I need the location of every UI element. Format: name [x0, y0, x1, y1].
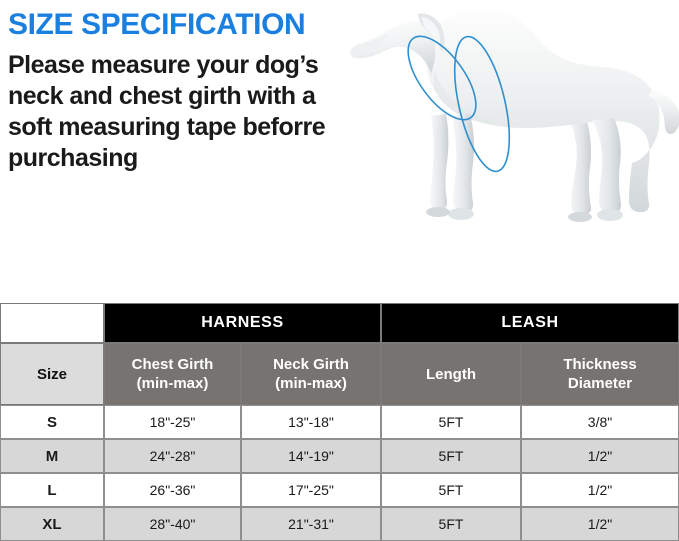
- column-header-thickness-line1: Thickness: [522, 355, 678, 374]
- dog-paw-front-far: [426, 207, 450, 217]
- cell-size: M: [0, 439, 104, 473]
- cell-chest-girth: 28"-40": [104, 507, 241, 541]
- table-body: S 18"-25" 13"-18" 5FT 3/8" M 24"-28" 14"…: [0, 405, 679, 541]
- group-header-leash: LEASH: [381, 303, 679, 343]
- table-row: L 26"-36" 17"-25" 5FT 1/2": [0, 473, 679, 507]
- cell-neck-girth: 14"-19": [241, 439, 381, 473]
- table-row: S 18"-25" 13"-18" 5FT 3/8": [0, 405, 679, 439]
- dog-paw-hind-far: [568, 212, 592, 222]
- dog-hind-leg-far: [568, 118, 591, 215]
- column-header-neck-girth: Neck Girth (min-max): [241, 343, 381, 405]
- table-column-header-row: Size Chest Girth (min-max) Neck Girth (m…: [0, 343, 679, 405]
- cell-length: 5FT: [381, 405, 521, 439]
- cell-neck-girth: 17"-25": [241, 473, 381, 507]
- cell-thickness: 1/2": [521, 507, 679, 541]
- table-row: M 24"-28" 14"-19" 5FT 1/2": [0, 439, 679, 473]
- cell-chest-girth: 18"-25": [104, 405, 241, 439]
- column-header-chest-girth-line1: Chest Girth: [105, 355, 240, 374]
- cell-size: XL: [0, 507, 104, 541]
- cell-chest-girth: 26"-36": [104, 473, 241, 507]
- dog-paw-hind: [597, 209, 623, 221]
- column-header-thickness: Thickness Diameter: [521, 343, 679, 405]
- cell-thickness: 3/8": [521, 405, 679, 439]
- column-header-chest-girth-line2: (min-max): [105, 374, 240, 393]
- cell-thickness: 1/2": [521, 473, 679, 507]
- column-header-neck-girth-line1: Neck Girth: [242, 355, 380, 374]
- size-specification-table: HARNESS LEASH Size Chest Girth (min-max)…: [0, 303, 679, 541]
- intro-block: SIZE SPECIFICATION Please measure your d…: [8, 8, 348, 174]
- cell-neck-girth: 13"-18": [241, 405, 381, 439]
- dog-front-leg-far: [430, 114, 448, 210]
- column-header-length: Length: [381, 343, 521, 405]
- column-header-chest-girth: Chest Girth (min-max): [104, 343, 241, 405]
- page-title: SIZE SPECIFICATION: [8, 8, 348, 42]
- group-header-harness: HARNESS: [104, 303, 381, 343]
- cell-size: S: [0, 405, 104, 439]
- dog-hind-leg-near: [592, 118, 621, 213]
- dog-mannequin-illustration: [330, 0, 679, 230]
- cell-length: 5FT: [381, 507, 521, 541]
- column-header-size: Size: [0, 343, 104, 405]
- table-group-header-row: HARNESS LEASH: [0, 303, 679, 343]
- table-header: HARNESS LEASH Size Chest Girth (min-max)…: [0, 303, 679, 405]
- dog-illustration-svg: [330, 0, 679, 230]
- column-header-neck-girth-line2: (min-max): [242, 374, 380, 393]
- cell-neck-girth: 21"-31": [241, 507, 381, 541]
- group-header-blank: [0, 303, 104, 343]
- cell-length: 5FT: [381, 439, 521, 473]
- intro-description: Please measure your dog’s neck and chest…: [8, 50, 344, 174]
- dog-paw-front: [448, 208, 474, 220]
- cell-thickness: 1/2": [521, 439, 679, 473]
- cell-size: L: [0, 473, 104, 507]
- cell-chest-girth: 24"-28": [104, 439, 241, 473]
- dog-front-leg-near: [452, 114, 474, 212]
- column-header-thickness-line2: Diameter: [522, 374, 678, 393]
- table-row: XL 28"-40" 21"-31" 5FT 1/2": [0, 507, 679, 541]
- cell-length: 5FT: [381, 473, 521, 507]
- column-header-length-line1: Length: [382, 365, 520, 384]
